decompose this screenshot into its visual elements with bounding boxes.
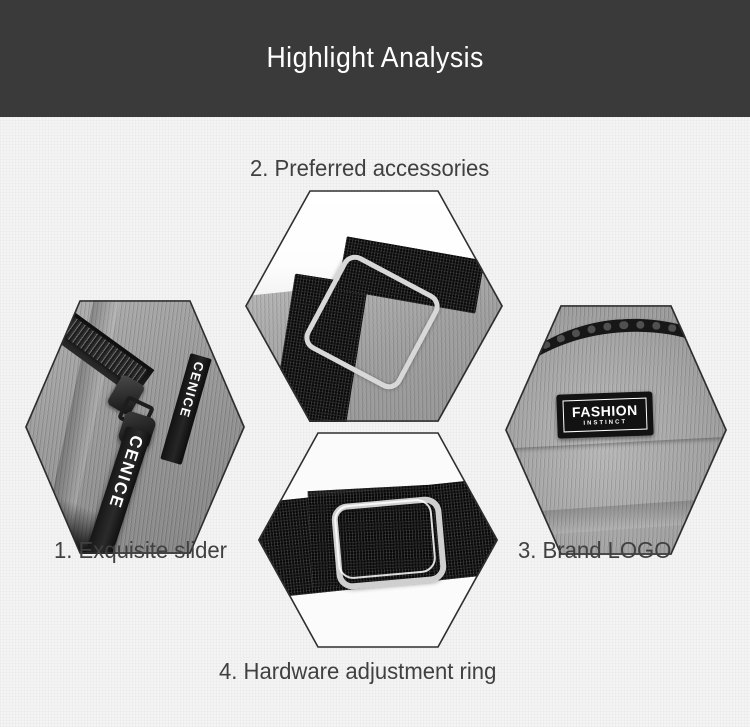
photo-brand-logo: FASHION INSTINCT [505,305,727,555]
brand-patch-main-text: FASHION [572,403,638,419]
brand-patch-border: FASHION INSTINCT [562,398,647,433]
feature-caption-exquisite-slider: 1. Exquisite slider [54,537,227,564]
metal-adjustment-ring-highlight [333,498,437,580]
feature-caption-brand-logo: 3. Brand LOGO [518,537,671,564]
feature-photo-brand-logo: FASHION INSTINCT [505,305,727,555]
header-banner: Highlight Analysis [0,0,750,117]
photo-preferred-accessories [245,190,503,422]
photo-exquisite-slider: CENICE CENICE [25,300,245,554]
photo-hardware-adjustment-ring [258,432,498,648]
feature-caption-hardware-adjustment-ring: 4. Hardware adjustment ring [219,658,496,685]
product-highlight-page: Highlight Analysis CENICE CENICE [0,0,750,727]
feature-caption-preferred-accessories: 2. Preferred accessories [250,155,489,182]
feature-photo-exquisite-slider: CENICE CENICE [25,300,245,554]
brand-patch-sub-text: INSTINCT [583,419,627,427]
feature-photo-preferred-accessories [245,190,503,422]
page-title: Highlight Analysis [266,42,483,75]
brand-patch: FASHION INSTINCT [556,391,653,438]
feature-photo-hardware-adjustment-ring [258,432,498,648]
